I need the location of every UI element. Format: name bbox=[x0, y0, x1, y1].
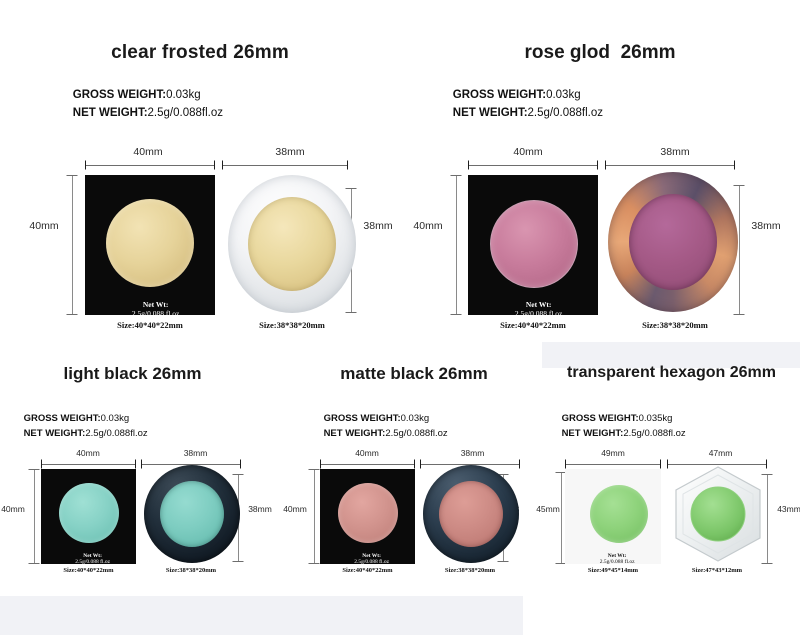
swatch-net-weight: Net Wt: 2.5g/0.088 fl.oz bbox=[85, 291, 215, 315]
swatch-height-dimension-line bbox=[308, 469, 319, 564]
jar-size-caption: Size:38*38*20mm bbox=[141, 567, 241, 574]
net-weight-line: NET WEIGHT:2.5g/0.088fl.oz bbox=[440, 95, 603, 131]
swatch-size-caption: Size:40*40*22mm bbox=[85, 320, 215, 330]
swatch-net-weight-value: 2.5g/0.088 fl.oz bbox=[515, 309, 563, 315]
jar-size-caption: Size:47*43*12mm bbox=[667, 567, 767, 574]
swatch-size-caption: Size:49*45*14mm bbox=[565, 567, 661, 574]
product-title: rose glod 26mm bbox=[400, 42, 800, 64]
jar-height-label: 43mm bbox=[771, 504, 800, 514]
net-weight-value: 2.5g/0.088fl.oz bbox=[85, 428, 147, 439]
jar-powder bbox=[160, 481, 224, 547]
swatch-height-dimension-line bbox=[66, 175, 77, 315]
swatch-size-caption: Size:40*40*22mm bbox=[320, 567, 415, 574]
product-title: transparent hexagon 26mm bbox=[543, 364, 800, 382]
swatch-height-dimension-line bbox=[28, 469, 39, 564]
swatch-net-weight-value: 2.5g/0.088 fl.oz bbox=[75, 559, 110, 564]
net-weight-value: 2.5g/0.088fl.oz bbox=[385, 428, 447, 439]
powder-disc bbox=[590, 485, 648, 543]
product-panel-transparent-hexagon: transparent hexagon 26mm GROSS WEIGHT:0.… bbox=[543, 352, 800, 602]
swatch-height-label: 40mm bbox=[22, 220, 66, 232]
swatch-width-label: 40mm bbox=[78, 146, 218, 158]
product-title: matte black 26mm bbox=[285, 364, 543, 384]
product-title: light black 26mm bbox=[0, 364, 265, 384]
powder-disc bbox=[490, 200, 578, 288]
product-panel-clear-frosted: clear frosted 26mm GROSS WEIGHT:0.03kg N… bbox=[0, 20, 400, 340]
net-weight-value: 2.5g/0.088fl.oz bbox=[148, 107, 223, 119]
net-weight-label: NET WEIGHT: bbox=[73, 107, 148, 119]
swatch-net-weight: Net Wt: 2.5g/0.088 fl.oz bbox=[565, 547, 661, 564]
net-weight-label: NET WEIGHT: bbox=[24, 428, 86, 439]
jar-size-caption: Size:38*38*20mm bbox=[222, 320, 362, 330]
swatch-card: Net Wt: 2.5g/0.088 fl.oz bbox=[85, 175, 215, 315]
swatch-net-weight-value: 2.5g/0.088 fl.oz bbox=[600, 559, 635, 564]
powder-disc bbox=[106, 199, 194, 287]
net-weight-label: NET WEIGHT: bbox=[562, 428, 624, 439]
net-weight-label: NET WEIGHT: bbox=[453, 107, 528, 119]
swatch-width-dimension-line bbox=[85, 160, 215, 170]
swatch-height-label: 40mm bbox=[0, 504, 31, 514]
jar-powder bbox=[629, 194, 717, 290]
swatch-card: Net Wt: 2.5g/0.088 fl.oz bbox=[320, 469, 415, 564]
swatch-net-weight-value: 2.5g/0.088 fl.oz bbox=[354, 559, 389, 564]
swatch-width-label: 40mm bbox=[458, 146, 598, 158]
swatch-height-dimension-line bbox=[450, 175, 461, 315]
net-weight-value: 2.5g/0.088fl.oz bbox=[623, 428, 685, 439]
jar-width-label: 38mm bbox=[225, 146, 355, 158]
product-panel-light-black: light black 26mm GROSS WEIGHT:0.03kg NET… bbox=[0, 352, 285, 602]
swatch-width-dimension-line bbox=[565, 459, 661, 468]
jar-height-label: 38mm bbox=[242, 504, 278, 514]
jar-width-label: 38mm bbox=[610, 146, 740, 158]
product-jar-photo bbox=[144, 465, 240, 563]
jar-height-label: 38mm bbox=[357, 220, 399, 232]
swatch-width-dimension-line bbox=[468, 160, 598, 170]
swatch-width-label: 49mm bbox=[563, 448, 663, 458]
swatch-width-dimension-line bbox=[320, 459, 415, 468]
net-weight-value: 2.5g/0.088fl.oz bbox=[528, 107, 603, 119]
swatch-size-caption: Size:40*40*22mm bbox=[41, 567, 136, 574]
swatch-card: Net Wt: 2.5g/0.088 fl.oz bbox=[468, 175, 598, 315]
product-jar-photo bbox=[228, 175, 356, 313]
net-weight-label: NET WEIGHT: bbox=[324, 428, 386, 439]
product-jar-photo bbox=[608, 172, 738, 312]
hexagon-jar-shape bbox=[671, 465, 765, 563]
swatch-net-weight-value: 2.5g/0.088 fl.oz bbox=[132, 309, 180, 315]
net-weight-line: NET WEIGHT:2.5g/0.088fl.oz bbox=[551, 417, 686, 450]
jar-powder bbox=[439, 481, 503, 547]
jar-width-dimension-line bbox=[222, 160, 348, 170]
net-weight-line: NET WEIGHT:2.5g/0.088fl.oz bbox=[60, 95, 223, 131]
jar-width-label: 38mm bbox=[148, 448, 243, 458]
swatch-width-label: 40mm bbox=[38, 448, 138, 458]
jar-powder bbox=[248, 197, 336, 291]
product-panel-matte-black: matte black 26mm GROSS WEIGHT:0.03kg NET… bbox=[285, 352, 543, 602]
product-panel-rose-glod: rose glod 26mm GROSS WEIGHT:0.03kg NET W… bbox=[400, 20, 800, 340]
powder-disc bbox=[338, 483, 398, 543]
swatch-height-label: 40mm bbox=[406, 220, 450, 232]
swatch-card: Net Wt: 2.5g/0.088 fl.oz bbox=[41, 469, 136, 564]
jar-width-label: 38mm bbox=[425, 448, 520, 458]
swatch-net-weight: Net Wt: 2.5g/0.088 fl.oz bbox=[468, 291, 598, 315]
swatch-net-weight-label: Net Wt: bbox=[143, 300, 168, 309]
swatch-width-label: 40mm bbox=[317, 448, 417, 458]
swatch-net-weight-label: Net Wt: bbox=[526, 300, 551, 309]
net-weight-line: NET WEIGHT:2.5g/0.088fl.oz bbox=[13, 417, 148, 450]
jar-width-label: 47mm bbox=[673, 448, 768, 458]
jar-width-dimension-line bbox=[605, 160, 735, 170]
swatch-net-weight: Net Wt: 2.5g/0.088 fl.oz bbox=[320, 547, 415, 564]
jar-size-caption: Size:38*38*20mm bbox=[605, 320, 745, 330]
powder-disc bbox=[59, 483, 119, 543]
jar-height-label: 38mm bbox=[744, 220, 788, 232]
swatch-width-dimension-line bbox=[41, 459, 136, 468]
swatch-net-weight: Net Wt: 2.5g/0.088 fl.oz bbox=[41, 547, 136, 564]
jar-size-caption: Size:38*38*20mm bbox=[420, 567, 520, 574]
product-jar-photo bbox=[423, 465, 519, 563]
product-title: clear frosted 26mm bbox=[0, 42, 400, 64]
swatch-card: Net Wt: 2.5g/0.088 fl.oz bbox=[565, 469, 661, 564]
product-jar-photo bbox=[671, 465, 765, 563]
swatch-size-caption: Size:40*40*22mm bbox=[468, 320, 598, 330]
net-weight-line: NET WEIGHT:2.5g/0.088fl.oz bbox=[313, 417, 448, 450]
